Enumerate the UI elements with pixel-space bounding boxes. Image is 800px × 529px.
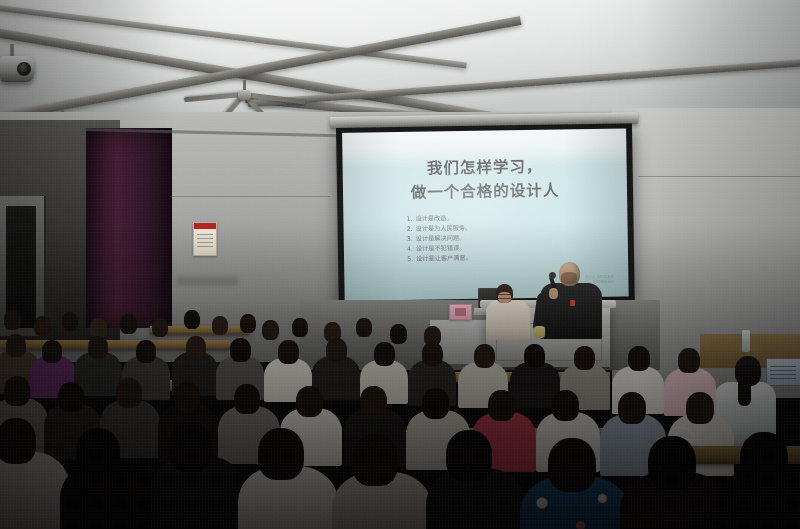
audience-head: [230, 338, 251, 362]
audience-head: [326, 338, 347, 362]
list-item-text: 设计是解决问题。: [416, 235, 466, 243]
audience-head: [0, 418, 36, 464]
microphone-head: [549, 272, 556, 279]
ceiling-projector-icon: [0, 56, 34, 82]
audience-head: [374, 342, 395, 366]
audience-head: [120, 314, 137, 334]
notice-text-line: [197, 246, 213, 247]
audience-head: [76, 428, 120, 478]
list-item: 2.设计是为人民服务。: [404, 225, 472, 234]
operator-torso: [486, 300, 530, 340]
audience-head: [136, 340, 156, 363]
audience-head: [296, 386, 323, 417]
wall-seam: [638, 176, 800, 177]
projection-screen: 我们怎样学习， 做一个合格的设计人 1.设计是改造。 2.设计是为人民服务。 3…: [336, 123, 635, 306]
audience-head: [42, 340, 62, 363]
audience-head: [574, 346, 595, 370]
list-item: 5.设计是让客户满意。: [404, 255, 472, 264]
audience-head: [524, 344, 545, 368]
audience-head: [548, 438, 596, 492]
audience-head: [474, 344, 495, 368]
audience-head: [352, 434, 398, 486]
slide-title-line1: 我们怎样学习，: [427, 158, 543, 178]
audience-head: [648, 436, 696, 490]
fan-hub: [238, 90, 251, 100]
list-item-text: 设计是让客户满意。: [416, 255, 472, 263]
audience-head: [258, 428, 304, 480]
laptop-screen-line: [770, 366, 796, 367]
audience-head: [240, 314, 256, 333]
audience-head: [212, 316, 228, 335]
presenter-hand: [549, 288, 558, 299]
list-item-number: 4.: [404, 246, 413, 255]
list-item-number: 1.: [403, 216, 412, 225]
audience-head: [58, 382, 84, 412]
audience-head: [34, 316, 51, 336]
notice-text-line: [197, 242, 213, 243]
audience-head: [152, 318, 168, 337]
ponytail: [738, 378, 751, 406]
audience-head: [4, 376, 30, 406]
slide-title: 我们怎样学习， 做一个合格的设计人: [342, 154, 627, 204]
list-item-text: 设计是不犯错误。: [416, 245, 466, 253]
audience-head: [678, 348, 700, 373]
notice-text-line: [197, 234, 213, 235]
stage-curtain: [86, 128, 172, 328]
list-item-number: 3.: [404, 236, 413, 245]
audience-head: [234, 384, 260, 414]
audience-head: [740, 432, 788, 486]
slide-title-line2: 做一个合格的设计人: [343, 178, 627, 204]
water-bottle: [742, 330, 750, 352]
audience-head: [628, 346, 650, 371]
audience-head: [262, 320, 279, 340]
audience-head: [6, 334, 26, 357]
audience-head: [90, 318, 107, 338]
projector-lens: [17, 62, 31, 76]
audience-head: [174, 382, 200, 412]
presenter-face: [561, 272, 577, 284]
wall-notice-poster: [193, 222, 217, 256]
projected-slide: 我们怎样学习， 做一个合格的设计人 1.设计是改造。 2.设计是为人民服务。 3…: [342, 128, 629, 300]
audience-head: [62, 312, 78, 331]
laptop-screen-line: [770, 378, 796, 379]
lecture-hall-photo: 我们怎样学习， 做一个合格的设计人 1.设计是改造。 2.设计是为人民服务。 3…: [0, 0, 800, 529]
notice-header-band: [194, 223, 216, 229]
audience-head: [446, 430, 492, 482]
list-item: 3.设计是解决问题。: [404, 235, 472, 244]
audience-head: [488, 390, 515, 421]
audience-head: [184, 310, 200, 329]
list-item: 4.设计是不犯错误。: [404, 245, 472, 254]
audience-head: [422, 388, 449, 419]
list-item-number: 5.: [404, 256, 413, 265]
wall-seam: [170, 196, 330, 197]
audience-head: [116, 378, 142, 408]
glasses-icon: [498, 294, 511, 299]
audience-head: [552, 390, 579, 421]
notice-text-line: [197, 238, 213, 239]
audience-head: [4, 310, 21, 330]
list-item-number: 2.: [404, 226, 413, 235]
audience-head: [390, 324, 407, 344]
student-laptop-screen: [766, 358, 800, 386]
audience-head: [686, 392, 714, 424]
list-item-text: 设计是改造。: [415, 215, 452, 223]
laptop-screen-line: [770, 370, 796, 371]
audience-head: [360, 386, 387, 417]
audience-head: [186, 336, 206, 359]
slide-bullet-list: 1.设计是改造。 2.设计是为人民服务。 3.设计是解决问题。 4.设计是不犯错…: [403, 215, 471, 266]
presenter-wrist-band: [534, 326, 545, 338]
audience-head: [422, 342, 443, 366]
audience-head: [292, 318, 308, 337]
list-item-text: 设计是为人民服务。: [416, 225, 472, 233]
audience-head: [356, 318, 372, 337]
wall-mark: [176, 276, 238, 286]
audience-head: [88, 336, 108, 359]
list-item: 1.设计是改造。: [403, 215, 471, 224]
audience-head: [278, 340, 299, 364]
laptop-screen-line: [770, 374, 796, 375]
pink-desk-sign: [449, 304, 472, 320]
pink-sign-graphic: [455, 308, 466, 316]
audience-head: [618, 392, 646, 424]
audience-head: [168, 422, 212, 472]
shirt-logo: [570, 300, 575, 306]
